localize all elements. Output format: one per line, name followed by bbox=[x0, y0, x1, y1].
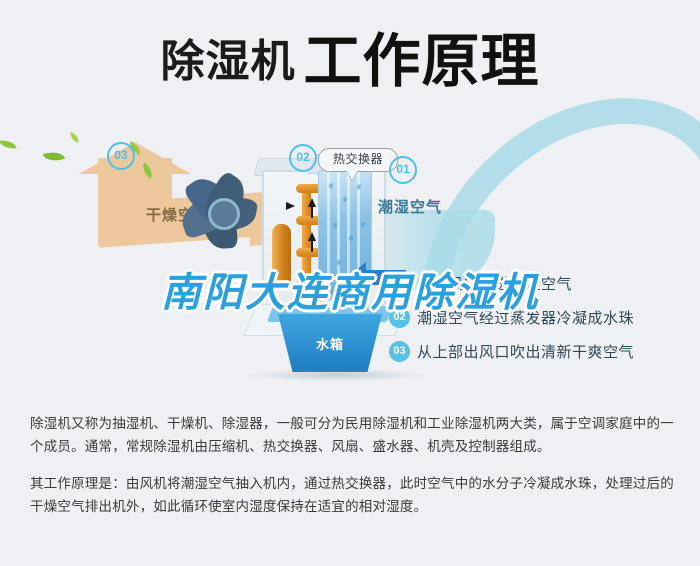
flow-arrow-right-icon bbox=[286, 202, 295, 210]
step-text: 潮湿空气经过蒸发器冷凝成水珠 bbox=[417, 307, 634, 328]
unit-shadow bbox=[246, 368, 426, 382]
page-title-part1: 除湿机 bbox=[160, 40, 295, 84]
humid-air-label: 潮湿空气 bbox=[378, 196, 488, 217]
body-paragraph-2: 其工作原理是：由风机将潮湿空气抽入机内，通过热交换器，此时空气中的水分子冷凝成水… bbox=[30, 472, 678, 518]
flow-arrow-stem bbox=[311, 206, 313, 218]
poster-root: 除湿机 工作原理 干燥空气 bbox=[0, 0, 700, 566]
diagram-badge-02: 02 bbox=[289, 144, 317, 172]
air-inlet-arrow-head bbox=[348, 262, 366, 292]
step-badge: 02 bbox=[389, 307, 410, 328]
heat-exchanger-callout-tip bbox=[345, 169, 359, 180]
page-title: 除湿机 工作原理 bbox=[0, 22, 700, 102]
compressor-cylinder bbox=[272, 224, 291, 288]
step-text: 从上部出风口吹出清新干爽空气 bbox=[417, 341, 634, 362]
step-badge: 01 bbox=[389, 273, 410, 294]
leaf-icon bbox=[43, 148, 65, 165]
step-badge: 03 bbox=[389, 341, 410, 362]
body-paragraph-1: 除湿机又称为抽湿机、干燥机、除湿器，一般可分为民用除湿机和工业除湿机两大类，属于… bbox=[30, 412, 678, 458]
fan-hub bbox=[208, 198, 240, 230]
water-tank-label: 水箱 bbox=[278, 334, 382, 353]
body-copy: 除湿机又称为抽湿机、干燥机、除湿器，一般可分为民用除湿机和工业除湿机两大类，属于… bbox=[30, 412, 678, 518]
step-item: 02 潮湿空气经过蒸发器冷凝成水珠 bbox=[389, 300, 689, 334]
step-item: 01 由进风口吸进潮湿空气 bbox=[389, 266, 689, 300]
step-item: 03 从上部出风口吹出清新干爽空气 bbox=[389, 334, 689, 368]
leaf-icon bbox=[0, 139, 16, 149]
diagram-badge-03: 03 bbox=[107, 142, 135, 170]
step-list: 01 由进风口吸进潮湿空气 02 潮湿空气经过蒸发器冷凝成水珠 03 从上部出风… bbox=[389, 266, 689, 368]
diagram-badge-01: 01 bbox=[389, 156, 417, 184]
page-title-part2: 工作原理 bbox=[303, 33, 539, 91]
fan-illustration bbox=[172, 166, 268, 258]
flow-arrow-stem bbox=[311, 240, 313, 252]
step-text: 由进风口吸进潮湿空气 bbox=[417, 273, 572, 294]
